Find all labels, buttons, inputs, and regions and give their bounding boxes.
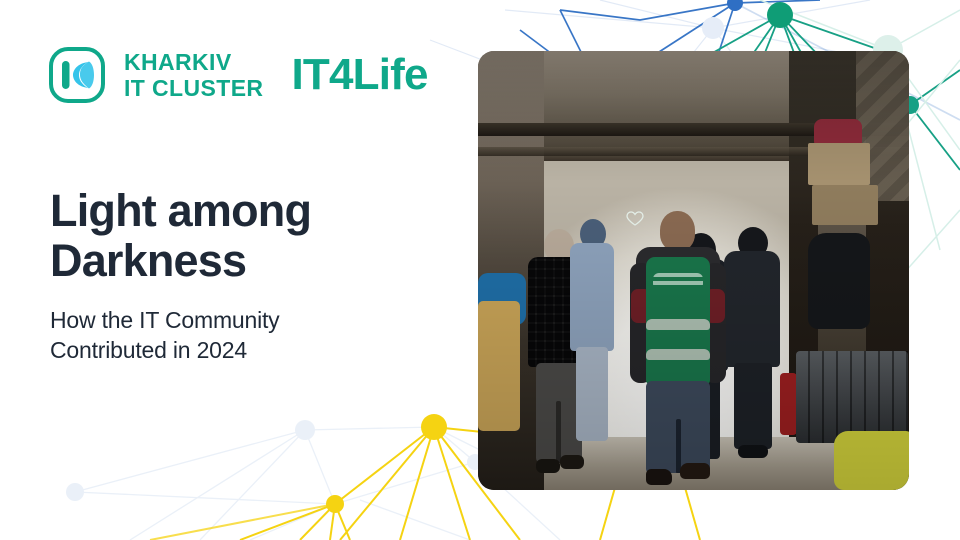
blue-node-top (727, 0, 743, 11)
pale-blue-node (702, 17, 724, 39)
teal-node-top (767, 2, 793, 28)
wordmark-line-1: KHARKIV (124, 51, 263, 74)
photo-scene (478, 51, 909, 490)
cover-photo (478, 51, 909, 490)
page-subtitle: How the IT Community Contributed in 2024 (50, 305, 450, 366)
it4life-program-logo: IT4Life (291, 53, 427, 97)
photo-vignette (478, 51, 909, 490)
yellow-node-main (421, 414, 447, 440)
pale-node-far-left (66, 483, 84, 501)
pale-node-bottom-left (295, 420, 315, 440)
page-title: Light among Darkness (50, 186, 450, 287)
kharkiv-it-cluster-logo-icon (48, 46, 106, 104)
presentation-slide: KHARKIV IT CLUSTER IT4Life Light among D… (0, 0, 960, 540)
yellow-node-left (326, 495, 344, 513)
wordmark-line-2: IT CLUSTER (124, 77, 263, 100)
kharkiv-it-cluster-wordmark: KHARKIV IT CLUSTER (124, 51, 263, 100)
headline-block: Light among Darkness How the IT Communit… (50, 186, 450, 366)
brand-logo-bar: KHARKIV IT CLUSTER IT4Life (48, 44, 428, 106)
